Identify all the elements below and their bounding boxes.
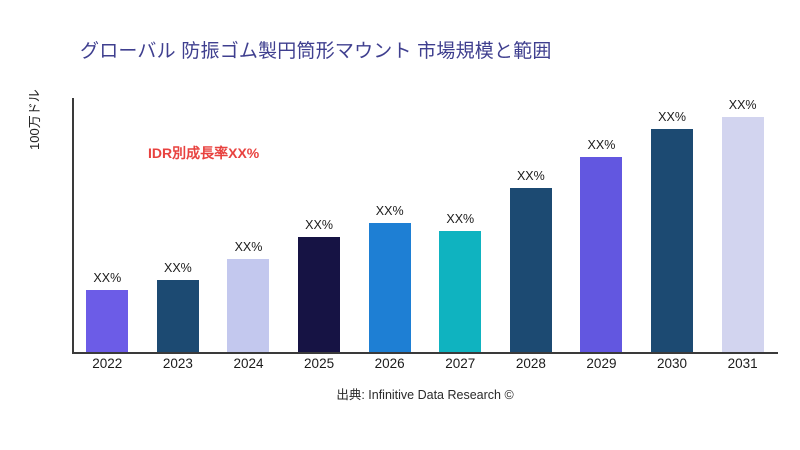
bar-value-label: XX% xyxy=(517,169,545,183)
x-tick-label: 2031 xyxy=(707,356,778,371)
bar xyxy=(298,237,340,352)
x-tick-label: 2027 xyxy=(425,356,496,371)
bar-group: XX% xyxy=(143,98,214,352)
chart-container: グローバル 防振ゴム製円筒形マウント 市場規模と範囲 100万ドル IDR別成長… xyxy=(0,0,800,450)
bar xyxy=(439,231,481,352)
x-axis-tick-labels: 2022202320242025202620272028202920302031 xyxy=(72,356,778,371)
bar xyxy=(580,157,622,352)
bar xyxy=(722,117,764,352)
bar-value-label: XX% xyxy=(93,271,121,285)
x-tick-label: 2023 xyxy=(143,356,214,371)
bar-group: XX% xyxy=(284,98,355,352)
bar-group: XX% xyxy=(496,98,567,352)
bar-value-label: XX% xyxy=(376,204,404,218)
bar xyxy=(651,129,693,352)
bar xyxy=(227,259,269,352)
bar-group: XX% xyxy=(354,98,425,352)
bar xyxy=(86,290,128,352)
bar-value-label: XX% xyxy=(305,218,333,232)
bar xyxy=(157,280,199,352)
y-axis-label: 100万ドル xyxy=(24,10,43,150)
x-tick-label: 2029 xyxy=(566,356,637,371)
bar-group: XX% xyxy=(707,98,778,352)
chart-title: グローバル 防振ゴム製円筒形マウント 市場規模と範囲 xyxy=(80,36,552,63)
x-tick-label: 2024 xyxy=(213,356,284,371)
bar-value-label: XX% xyxy=(164,261,192,275)
x-tick-label: 2028 xyxy=(496,356,567,371)
source-note: 出典: Infinitive Data Research © xyxy=(0,384,800,403)
bar-value-label: XX% xyxy=(658,110,686,124)
x-axis-line xyxy=(72,352,778,354)
x-tick-label: 2026 xyxy=(354,356,425,371)
bar xyxy=(510,188,552,352)
x-tick-label: 2022 xyxy=(72,356,143,371)
bar-group: XX% xyxy=(566,98,637,352)
bar xyxy=(369,223,411,352)
bar-group: XX% xyxy=(637,98,708,352)
bar-value-label: XX% xyxy=(729,98,757,112)
bar-group: XX% xyxy=(72,98,143,352)
bar-group: XX% xyxy=(425,98,496,352)
bar-series: XX%XX%XX%XX%XX%XX%XX%XX%XX%XX% xyxy=(72,98,778,352)
bar-value-label: XX% xyxy=(235,240,263,254)
x-tick-label: 2030 xyxy=(637,356,708,371)
x-tick-label: 2025 xyxy=(284,356,355,371)
bar-group: XX% xyxy=(213,98,284,352)
bar-value-label: XX% xyxy=(446,212,474,226)
bar-value-label: XX% xyxy=(588,138,616,152)
